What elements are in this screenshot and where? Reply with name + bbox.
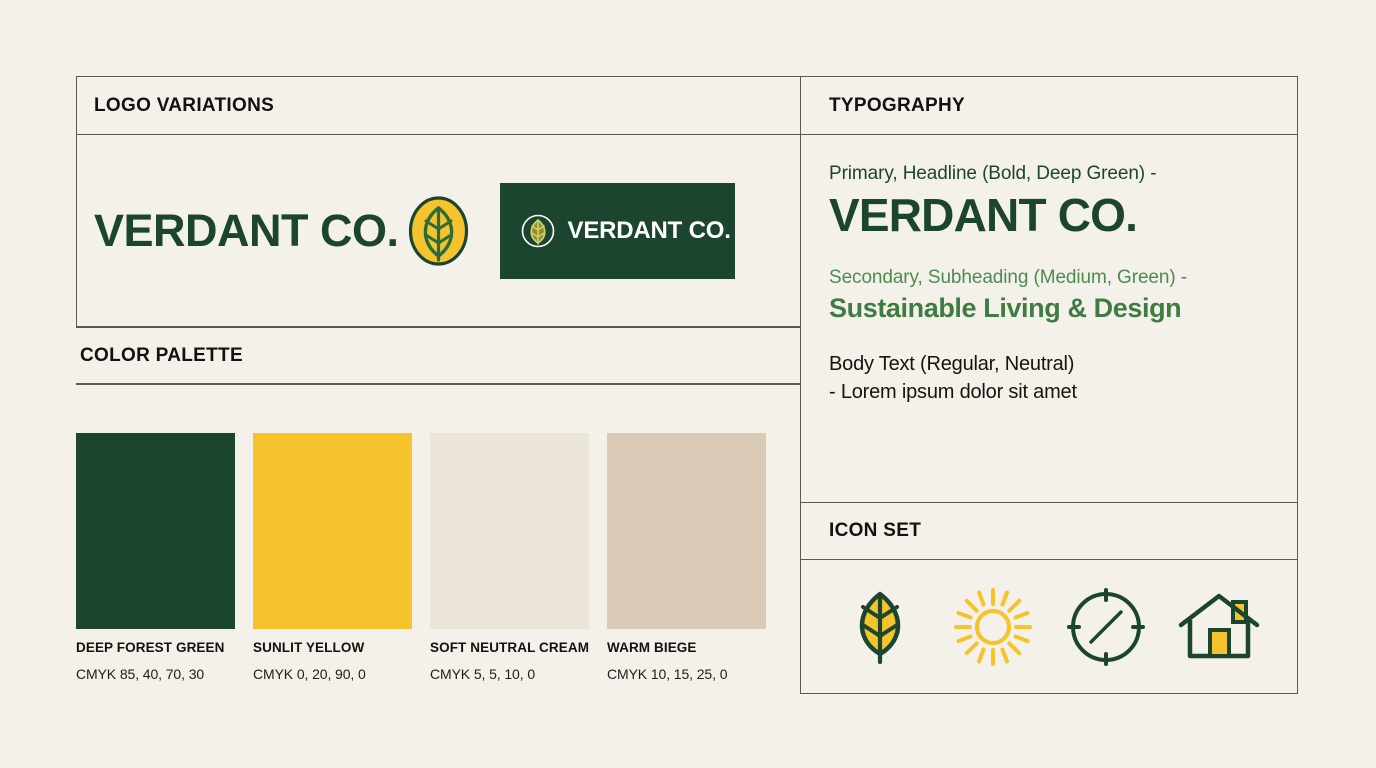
swatch-cmyk: CMYK 0, 20, 90, 0 — [253, 666, 418, 682]
swatch-cmyk: CMYK 10, 15, 25, 0 — [607, 666, 772, 682]
icon-cell — [950, 584, 1036, 670]
house-icon — [1176, 590, 1262, 664]
icon-cell — [1063, 584, 1149, 670]
swatch-chip-sunlit-yellow — [253, 433, 412, 629]
icon-set-row — [801, 560, 1297, 693]
sun-icon — [952, 586, 1034, 668]
typography-header: TYPOGRAPHY — [801, 77, 1297, 135]
right-column: TYPOGRAPHY Primary, Headline (Bold, Deep… — [800, 76, 1298, 694]
swatch-item: WARM BIEGE CMYK 10, 15, 25, 0 — [607, 433, 772, 682]
leaf-icon — [845, 588, 915, 666]
icon-cell — [1176, 584, 1262, 670]
typography-title: TYPOGRAPHY — [829, 95, 965, 117]
primary-type-sample: VERDANT CO. — [829, 190, 1269, 241]
logo-variations-body: VERDANT CO. — [77, 135, 800, 326]
swatch-name: SUNLIT YELLOW — [253, 640, 418, 657]
swatch-name: DEEP FOREST GREEN — [76, 640, 241, 657]
badge-logo-lockup: VERDANT CO. — [500, 183, 735, 279]
badge-logo-wordmark: VERDANT CO. — [568, 217, 731, 245]
logo-variations-title: LOGO VARIATIONS — [94, 95, 274, 117]
secondary-type-sample: Sustainable Living & Design — [829, 293, 1269, 324]
swatch-name: WARM BIEGE — [607, 640, 772, 657]
swatch-item: DEEP FOREST GREEN CMYK 85, 40, 70, 30 — [76, 433, 241, 682]
icon-set-title: ICON SET — [829, 520, 921, 542]
swatch-item: SUNLIT YELLOW CMYK 0, 20, 90, 0 — [253, 433, 418, 682]
logo-variations-panel: LOGO VARIATIONS VERDANT CO. — [76, 76, 800, 327]
swatch-name: SOFT NEUTRAL CREAM — [430, 640, 595, 657]
typography-body: Primary, Headline (Bold, Deep Green) - V… — [801, 135, 1297, 503]
brand-style-guide-page: { "theme": { "background": "#f4f1ea", "b… — [0, 0, 1376, 768]
body-type-label: Body Text (Regular, Neutral) — [829, 353, 1269, 376]
left-column: LOGO VARIATIONS VERDANT CO. — [76, 76, 800, 694]
primary-logo-lockup: VERDANT CO. — [94, 195, 470, 267]
body-type-sample: - Lorem ipsum dolor sit amet — [829, 381, 1269, 404]
swatch-chip-soft-neutral-cream — [430, 433, 589, 629]
color-palette-header: COLOR PALETTE — [76, 328, 800, 385]
compass-icon — [1066, 587, 1146, 667]
logo-variations-header: LOGO VARIATIONS — [77, 77, 800, 135]
secondary-type-label: Secondary, Subheading (Medium, Green) - — [829, 267, 1269, 289]
primary-type-label: Primary, Headline (Bold, Deep Green) - — [829, 163, 1269, 185]
leaf-in-ellipse-icon — [407, 195, 470, 267]
color-palette-panel: COLOR PALETTE DEEP FOREST GREEN CMYK 85,… — [76, 327, 800, 682]
icon-set-header: ICON SET — [801, 503, 1297, 560]
swatch-cmyk: CMYK 5, 5, 10, 0 — [430, 666, 595, 682]
swatch-chip-deep-forest-green — [76, 433, 235, 629]
icon-cell — [837, 584, 923, 670]
swatch-row: DEEP FOREST GREEN CMYK 85, 40, 70, 30 SU… — [76, 385, 800, 682]
swatch-chip-warm-biege — [607, 433, 766, 629]
primary-logo-wordmark: VERDANT CO. — [94, 208, 399, 253]
color-palette-title: COLOR PALETTE — [80, 345, 243, 367]
swatch-item: SOFT NEUTRAL CREAM CMYK 5, 5, 10, 0 — [430, 433, 595, 682]
leaf-in-circle-icon — [520, 211, 556, 251]
swatch-cmyk: CMYK 85, 40, 70, 30 — [76, 666, 241, 682]
style-guide-board: LOGO VARIATIONS VERDANT CO. — [76, 76, 1298, 694]
